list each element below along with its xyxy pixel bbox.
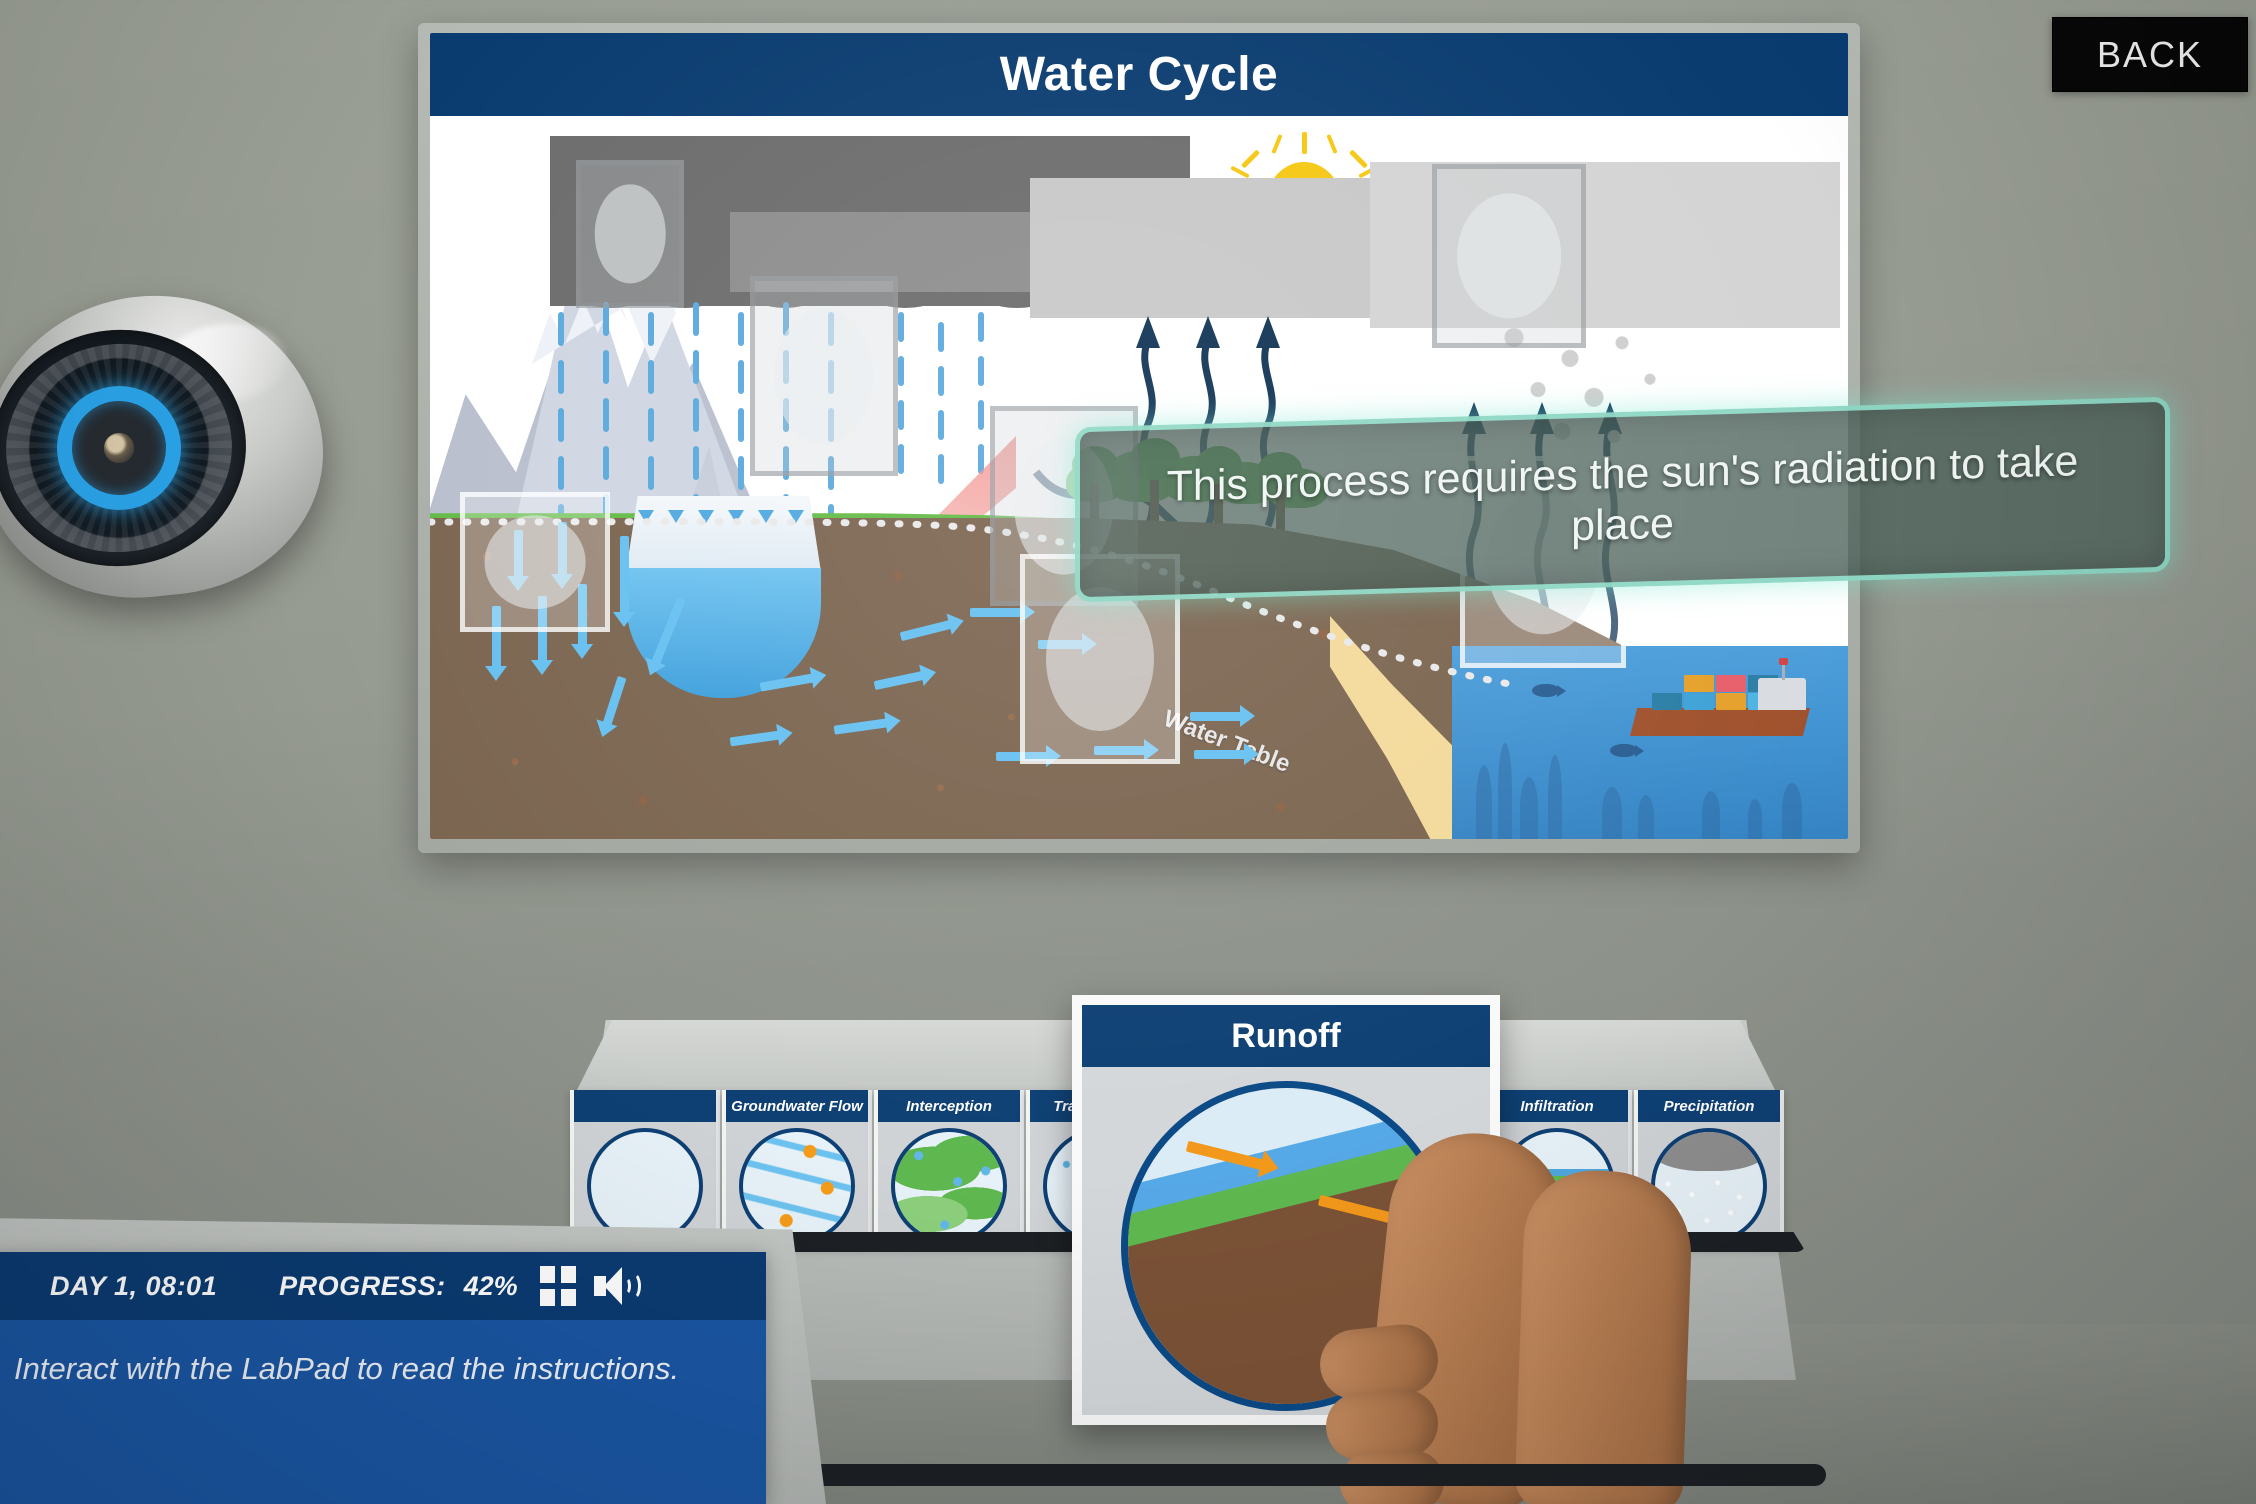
page-title: Water Cycle [1000, 47, 1279, 102]
down-arrow [758, 510, 774, 523]
robot-camera-icon [0, 296, 322, 596]
instruction-text: Interact with the LabPad to read the ins… [14, 1348, 714, 1390]
groundwater-arrow [1194, 750, 1246, 759]
infiltration-arrow [620, 536, 629, 614]
sun-ray [1230, 166, 1250, 179]
sun-ray [1271, 134, 1282, 154]
seaweed [1548, 755, 1562, 839]
labpad-screen[interactable]: DAY 1, 08:01 PROGRESS: 42% Interact with… [0, 1252, 766, 1504]
seaweed [1520, 777, 1538, 839]
down-arrow [668, 510, 684, 523]
down-arrow [638, 510, 654, 523]
seaweed [1782, 783, 1802, 839]
drop-slot-precipitation[interactable] [576, 160, 684, 308]
list-item[interactable] [570, 1090, 720, 1248]
down-arrow [698, 510, 714, 523]
seaweed [1748, 799, 1762, 839]
hand-thumb [1514, 1168, 1694, 1504]
drop-slot-infiltration[interactable] [460, 492, 610, 632]
hint-tooltip-text: This process requires the sun's radiatio… [1120, 435, 2125, 565]
back-button[interactable]: BACK [2052, 17, 2248, 92]
board-header: Water Cycle [430, 33, 1848, 116]
list-item[interactable]: Groundwater Flow [722, 1090, 872, 1248]
slot-placeholder-circle [595, 184, 666, 283]
seaweed [1602, 787, 1622, 839]
seaweed [1476, 765, 1492, 839]
waterfall [626, 496, 821, 572]
groundwater-arrow [1190, 712, 1242, 721]
fish [1532, 684, 1558, 697]
slot-placeholder-circle [485, 515, 586, 609]
down-arrow [728, 510, 744, 523]
card-thumbnail [891, 1128, 1007, 1244]
labpad-status-bar: DAY 1, 08:01 PROGRESS: 42% [0, 1252, 766, 1320]
hint-tooltip: This process requires the sun's radiatio… [1075, 397, 2170, 603]
fish [1610, 744, 1636, 757]
card-label [574, 1090, 716, 1122]
drop-slot-condensation[interactable] [750, 276, 898, 476]
sun-ray [1326, 134, 1337, 154]
list-item[interactable]: Interception [874, 1090, 1024, 1248]
sun-ray [1241, 149, 1260, 168]
groundwater-arrow [970, 608, 1022, 617]
slot-placeholder-circle [774, 308, 873, 445]
sound-icon[interactable] [594, 1267, 638, 1305]
slot-placeholder-circle [1046, 587, 1154, 731]
user-hand [1370, 1155, 1790, 1504]
seaweed [1638, 795, 1654, 839]
progress-value: 42% [464, 1271, 518, 1302]
card-thumbnail [587, 1128, 703, 1244]
card-label: Interception [878, 1090, 1020, 1122]
drop-slot-cloud-right[interactable] [1432, 164, 1586, 348]
sun-ray [1302, 132, 1307, 154]
card-label: Precipitation [1638, 1090, 1780, 1122]
slot-placeholder-circle [1457, 193, 1561, 318]
calculator-icon[interactable] [540, 1266, 576, 1306]
sun-ray [1349, 149, 1368, 168]
card-thumbnail [739, 1128, 855, 1244]
back-button-label: BACK [2097, 34, 2203, 76]
day-time-text: DAY 1, 08:01 [50, 1271, 217, 1302]
progress-label: PROGRESS: [279, 1271, 446, 1302]
card-label: Infiltration [1486, 1090, 1628, 1122]
seaweed [1702, 791, 1720, 839]
down-arrow [788, 510, 804, 523]
card-label: Groundwater Flow [726, 1090, 868, 1122]
selected-card-title: Runoff [1082, 1005, 1490, 1067]
seaweed [1498, 743, 1512, 839]
container-ship [1630, 668, 1810, 736]
camera-pupil [103, 432, 136, 465]
